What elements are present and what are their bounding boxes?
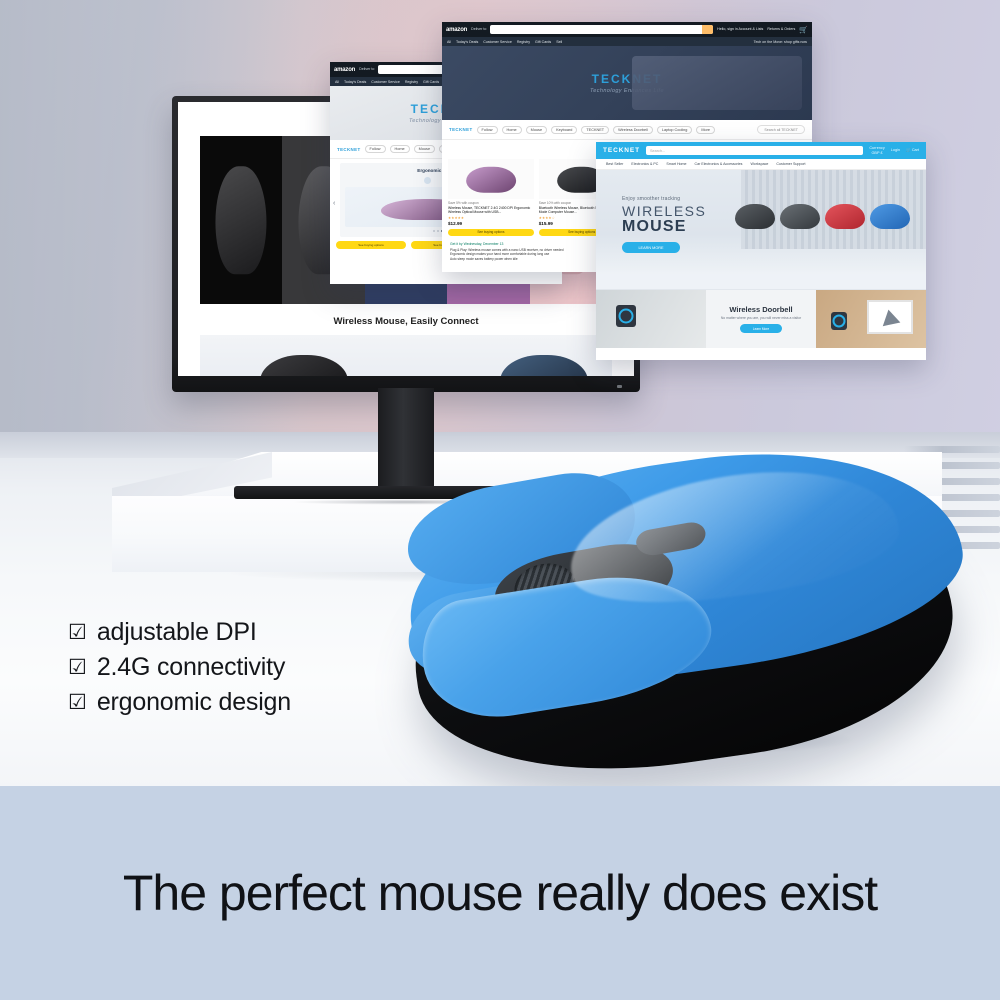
nav2-promo[interactable]: Tech on the Move: shop gifts now [754,40,807,44]
feature-label: ergonomic design [97,688,291,717]
subnav-mouse[interactable]: Mouse [414,145,435,153]
amazon-topbar-2: amazon Deliver to Hello, sign in Account… [442,22,812,37]
currency-label: Currency [869,146,884,150]
nav2-item-sell[interactable]: Sell [556,40,562,44]
cart-label: Cart [912,148,919,152]
tecknet-site-nav: Best Seller Electronics & PC Smart Home … [596,159,926,170]
deal-name[interactable]: Wireless Mouse, TECKNET 2.4G 2400 DPI Er… [448,206,534,215]
amazon-deliver-to[interactable]: Deliver to [359,67,374,71]
currency-value: GBP £ [871,151,882,155]
subnav-home[interactable]: Home [390,145,410,153]
subnav2-tecknet[interactable]: TECKNET [581,126,609,134]
screen-lower-strip [200,335,612,376]
swatch-black [200,136,282,304]
site-nav-electronics-pc[interactable]: Electronics & PC [631,162,658,166]
nav-item-all[interactable]: All [335,80,339,84]
nav-item-gift-cards[interactable]: Gift Cards [423,80,439,84]
deal-badge: Save 5% with coupon [448,201,534,205]
product-marketing-image: Blue [0,0,1000,1000]
hero-copy: Enjoy smoother tracking WIRELESS MOUSE L… [622,196,706,253]
doorbell-learn-more-button[interactable]: Learn More [740,324,782,333]
subnav-follow[interactable]: Follow [365,145,386,153]
feature-label: adjustable DPI [97,618,257,647]
store-search-input[interactable]: Search all TECKNET [757,125,805,134]
site-nav-smart-home[interactable]: Smart Home [666,162,686,166]
amazon-search-input-2[interactable] [490,25,713,34]
browser-window-tecknet-site[interactable]: TECKNET Search... Currency GBP £ Login 🛒… [596,142,926,360]
site-divider-strip [596,274,926,290]
hero-learn-more-button[interactable]: LEARN MORE [622,242,680,253]
cart-icon-2[interactable]: 🛒 [799,26,808,34]
cart-link[interactable]: 🛒 Cart [906,148,919,153]
hero-line-2: MOUSE [622,219,706,236]
hero-mice-lineup [735,204,910,229]
feature-icon-1 [424,177,431,184]
currency-selector[interactable]: Currency GBP £ [869,146,884,155]
buy-button-1[interactable]: See buying options [336,241,406,249]
feature-item: ☑ adjustable DPI [68,618,291,647]
store-brand-label[interactable]: TECKNET [337,147,361,152]
footer-band: The perfect mouse really does exist [0,786,1000,1000]
subnav2-mouse[interactable]: Mouse [526,126,547,134]
hero-mouse-grey-1 [735,204,775,229]
tecknet-site-logo[interactable]: TECKNET [603,147,640,154]
feature-label: 2.4G connectivity [97,653,285,682]
doorbell-subtitle: No matter where you are, you will never … [721,316,801,320]
chevron-left-icon[interactable]: ‹ [333,200,335,207]
amazon-returns-2[interactable]: Returns & Orders [767,27,795,31]
nav-item-registry[interactable]: Registry [405,80,418,84]
site-nav-workspace[interactable]: Workspace [750,162,768,166]
footer-tagline: The perfect mouse really does exist [123,864,877,922]
feature-item: ☑ 2.4G connectivity [68,653,291,682]
amazon-account-2[interactable]: Hello, sign in Account & Lists [717,27,763,31]
doorbell-device-icon [616,305,636,327]
hero-mouse-grey-2 [780,204,820,229]
deal-image [448,159,534,199]
site-nav-customer-support[interactable]: Customer Support [776,162,805,166]
login-link[interactable]: Login [891,148,900,153]
tecknet-site-header: TECKNET Search... Currency GBP £ Login 🛒… [596,142,926,159]
doorbell-device-icon-2 [831,312,847,330]
amazon-deliver-to-2[interactable]: Deliver to [471,27,486,31]
nav2-item-all[interactable]: All [447,40,451,44]
deal-stars: ★★★★★ [448,216,534,220]
promo-card-left[interactable] [596,290,706,348]
hero-eyebrow: Enjoy smoother tracking [622,196,706,202]
monitor-power-led [617,385,622,388]
nav2-item-customer-service[interactable]: Customer Service [483,40,512,44]
nav-item-todays-deals[interactable]: Today's Deals [344,80,366,84]
promo-card-doorbell[interactable]: Wireless Doorbell No matter where you ar… [706,290,816,348]
hero-line-1: WIRELESS [622,204,706,219]
doorbell-title: Wireless Doorbell [729,305,792,314]
product-mouse [398,452,978,782]
site-hero-banner: Enjoy smoother tracking WIRELESS MOUSE L… [596,170,926,274]
nav-item-customer-service[interactable]: Customer Service [371,80,400,84]
feature-item: ☑ ergonomic design [68,688,291,717]
checkbox-checked-icon: ☑ [68,692,87,713]
site-nav-best-seller[interactable]: Best Seller [606,162,623,166]
subnav2-follow[interactable]: Follow [477,126,498,134]
store-brand-label-2[interactable]: TECKNET [449,127,473,132]
amazon-logo-2[interactable]: amazon [446,27,467,33]
subnav2-more[interactable]: More [696,126,715,134]
search-icon-2[interactable] [702,25,713,34]
hero-mouse-blue [870,204,910,229]
site-nav-car-electronics[interactable]: Car Electronics & Accessories [695,162,743,166]
nav2-item-gift-cards[interactable]: Gift Cards [535,40,551,44]
nav2-item-todays-deals[interactable]: Today's Deals [456,40,478,44]
site-search-input[interactable]: Search... [646,146,863,155]
site-promo-cards: Wireless Doorbell No matter where you ar… [596,290,926,348]
subnav2-cooling[interactable]: Laptop Cooling [657,126,693,134]
wall-frame-decor [867,300,913,334]
amazon-logo[interactable]: amazon [334,67,355,73]
checkbox-checked-icon: ☑ [68,622,87,643]
tecknet-hero-banner-dark: TECKNET Technology Enhances Life [442,46,812,120]
screen-caption: Wireless Mouse, Easily Connect [178,304,634,335]
store-subnav-2: TECKNET Follow Home Mouse Keyboard TECKN… [442,120,812,140]
checkbox-checked-icon: ☑ [68,657,87,678]
amazon-nav-2: All Today's Deals Customer Service Regis… [442,37,812,46]
deal-card[interactable]: Save 5% with coupon Wireless Mouse, TECK… [448,159,534,236]
nav2-item-registry[interactable]: Registry [517,40,530,44]
promo-card-right[interactable] [816,290,926,348]
subnav2-doorbell[interactable]: Wireless Doorbell [613,126,653,134]
deal-buy-button[interactable]: See buying options [448,229,534,236]
feature-list: ☑ adjustable DPI ☑ 2.4G connectivity ☑ e… [68,618,291,723]
deal-price: $12.99 [448,221,534,226]
subnav2-home[interactable]: Home [502,126,522,134]
subnav2-keyboard[interactable]: Keyboard [551,126,577,134]
hero-mouse-red [825,204,865,229]
